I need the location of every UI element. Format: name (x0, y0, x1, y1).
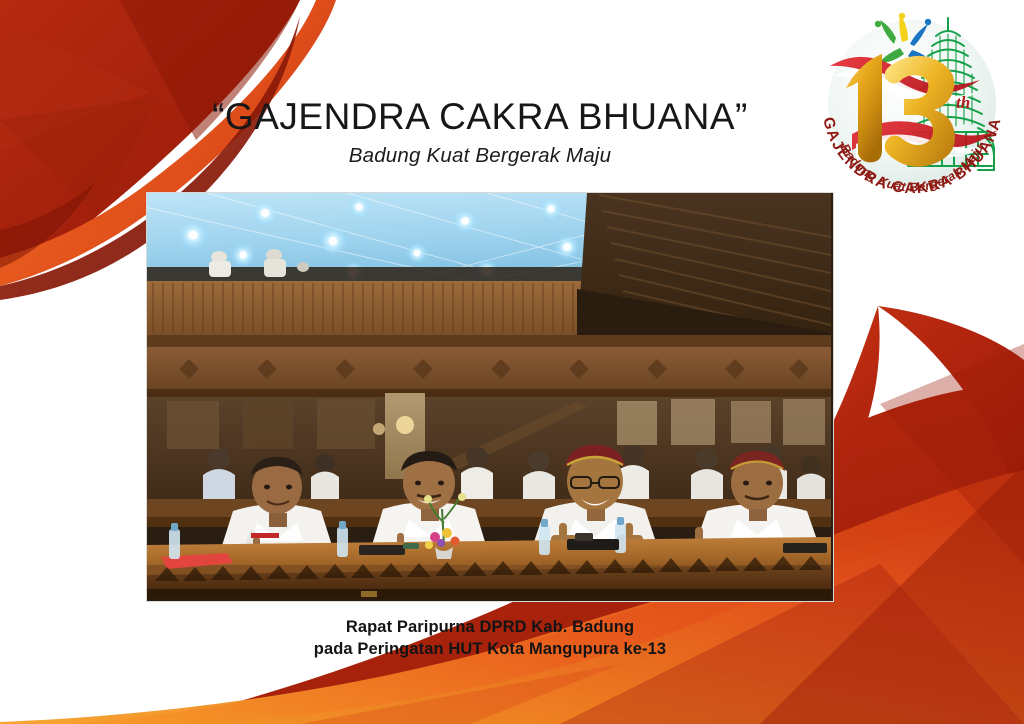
anniversary-logo: th GAJENDRA CAKRA BHUANA Badung Kuat Ber… (808, 4, 1016, 216)
poster-canvas: “GAJENDRA CAKRA BHUANA” Badung Kuat Berg… (0, 0, 1024, 724)
logo-ordinal-suffix: th (956, 93, 970, 112)
event-photograph (146, 192, 834, 602)
photo-scene (147, 193, 831, 599)
photo-caption: Rapat Paripurna DPRD Kab. Badung pada Pe… (0, 617, 980, 661)
caption-line-1: Rapat Paripurna DPRD Kab. Badung (0, 617, 980, 639)
caption-line-2: pada Peringatan HUT Kota Mangupura ke-13 (0, 639, 980, 661)
